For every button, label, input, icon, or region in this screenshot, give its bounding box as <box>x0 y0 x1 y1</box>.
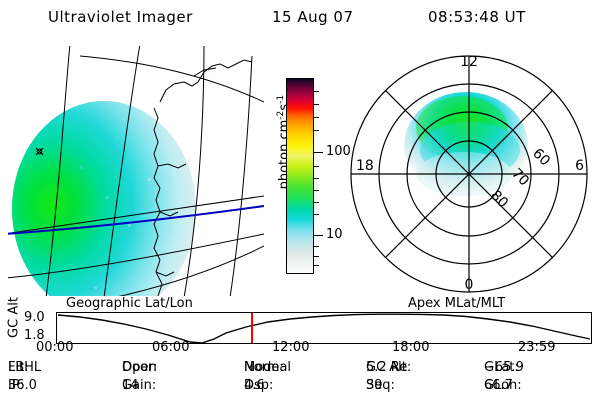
observation-date: 15 Aug 07 <box>272 8 354 26</box>
alt-axis-label: GC Alt <box>7 288 22 348</box>
colorbar-tick-major <box>314 152 323 153</box>
mag-panel-caption: Apex MLat/MLT <box>408 296 505 311</box>
colorbar-gradient <box>287 79 313 273</box>
colorbar-tick <box>314 117 319 118</box>
current-time-marker <box>251 313 253 343</box>
aurora-emission-region <box>12 101 196 296</box>
alt-xtick-18: 18:00 <box>392 340 429 355</box>
status-mode-value: Normal <box>244 360 291 375</box>
status-gcalt-value: 5.2 Re <box>366 360 407 375</box>
status-dsp-value: 4.6 <box>244 378 265 393</box>
mlat-label-60: 60 <box>529 146 553 170</box>
status-gain-value: 14 <box>122 378 139 393</box>
colorbar-tick <box>314 256 319 257</box>
status-glon-value: 66.7 <box>484 378 513 393</box>
observation-time: 08:53:48 UT <box>428 8 526 26</box>
polar-dial: 12 18 6 0 60 70 80 <box>344 46 594 296</box>
colorbar-tick <box>314 91 319 92</box>
colorbar-tick <box>314 190 319 191</box>
colorbar-tick <box>314 104 319 105</box>
colorbar-tick <box>314 202 319 203</box>
alt-xtick-0: 00:00 <box>36 340 73 355</box>
alt-plot-frame <box>57 313 592 344</box>
colorbar-tick <box>314 265 319 266</box>
colorbar-panel: photon cm-2s-1 <box>262 46 342 296</box>
altitude-strip-plot[interactable]: Geographic Lat/Lon Apex MLat/MLT GC Alt … <box>0 296 600 358</box>
alt-xtick-12: 12:00 <box>272 340 309 355</box>
alt-trace-plot <box>56 312 592 344</box>
geographic-projection <box>8 46 264 296</box>
page-title: Ultraviolet Imager <box>48 8 193 26</box>
alt-xtick-6: 06:00 <box>152 340 189 355</box>
mlt-label-6: 6 <box>575 158 584 174</box>
alt-xtick-end: 23:59 <box>518 340 555 355</box>
status-footer: Flt: LBHL IP: 36.0 Door: Open Gain: 14 M… <box>0 360 600 400</box>
mlt-label-12: 12 <box>460 54 478 70</box>
alt-ytick-high: 9.0 <box>24 310 45 325</box>
status-seq-value: 39 <box>366 378 383 393</box>
alt-trace-line <box>58 314 590 343</box>
colorbar-scale[interactable] <box>286 78 314 274</box>
header-bar: Ultraviolet Imager 15 Aug 07 08:53:48 UT <box>0 6 600 32</box>
colorbar-tick <box>314 130 319 131</box>
geo-panel-caption: Geographic Lat/Lon <box>66 296 193 311</box>
aurora-oval-patch <box>404 92 528 200</box>
status-glat-value: −65.9 <box>484 360 524 375</box>
colorbar-tick <box>314 166 319 167</box>
mlt-label-18: 18 <box>356 158 374 174</box>
colorbar-label-10: 10 <box>326 228 343 241</box>
mlt-spokes <box>351 56 587 292</box>
status-flt-value: LBHL <box>8 360 41 375</box>
colorbar-tick <box>314 246 319 247</box>
status-door-value: Open <box>122 360 157 375</box>
status-ip-value: 36.0 <box>8 378 37 393</box>
magnetic-polar-panel[interactable]: 12 18 6 0 60 70 80 <box>344 46 594 296</box>
colorbar-tick-major <box>314 235 323 236</box>
colorbar-tick <box>314 178 319 179</box>
mlt-label-0: 0 <box>465 277 474 293</box>
station-marker <box>36 148 43 155</box>
colorbar-tick <box>314 214 319 215</box>
geographic-image-panel[interactable] <box>8 46 264 296</box>
